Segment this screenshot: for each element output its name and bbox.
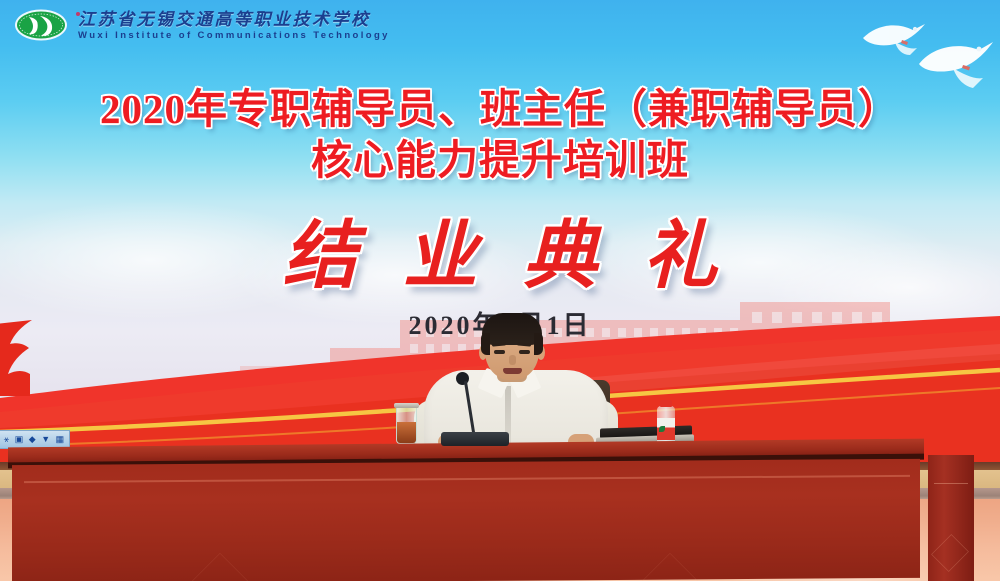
bottle-leaf-mark xyxy=(659,426,665,432)
cup-icon xyxy=(396,406,417,444)
institution-header: 江苏省无锡交通高等职业技术学校 Wuxi Institute of Commun… xyxy=(14,8,390,42)
speaker-mouth xyxy=(503,368,522,374)
institution-name-cn: 江苏省无锡交通高等职业技术学校 xyxy=(78,11,390,28)
tea-liquid xyxy=(397,422,416,443)
speaker-eye-right xyxy=(519,350,530,354)
cabinet-trim xyxy=(934,483,968,484)
speaker-hair-side xyxy=(534,333,543,355)
speaker-nose xyxy=(509,355,516,365)
speaker-hair xyxy=(482,313,542,345)
microphone-base xyxy=(441,432,509,446)
bottle-icon xyxy=(657,400,675,447)
speaker-hair-side xyxy=(481,333,490,355)
banner-title-line-1: 2020年专职辅导员、班主任（兼职辅导员） xyxy=(0,84,1000,134)
person-icon: ⚹ xyxy=(4,435,9,444)
bottle-cap xyxy=(660,400,672,407)
cup-lid xyxy=(394,403,419,408)
group-icon: ▦ xyxy=(56,435,65,444)
microphone-icon xyxy=(456,372,469,385)
school-emblem-icon xyxy=(14,8,68,42)
institution-name-en: Wuxi Institute of Communications Technol… xyxy=(78,31,390,41)
header-accent-dot xyxy=(76,12,80,16)
speaker-eye-left xyxy=(494,350,505,354)
shirt-icon: ▼ xyxy=(41,435,50,444)
banner-title: 2020年专职辅导员、班主任（兼职辅导员） 核心能力提升培训班 xyxy=(0,84,1000,186)
ceremony-calligraphy: 结业典礼 xyxy=(0,196,1000,303)
banner-title-line-2: 核心能力提升培训班 xyxy=(0,134,1000,186)
ceremony-photo: 江苏省无锡交通高等职业技术学校 Wuxi Institute of Commun… xyxy=(0,0,1000,581)
monitor-icon: ▣ xyxy=(15,435,24,444)
socket-icon: ◆ xyxy=(29,435,36,444)
dove-icon xyxy=(855,8,995,88)
